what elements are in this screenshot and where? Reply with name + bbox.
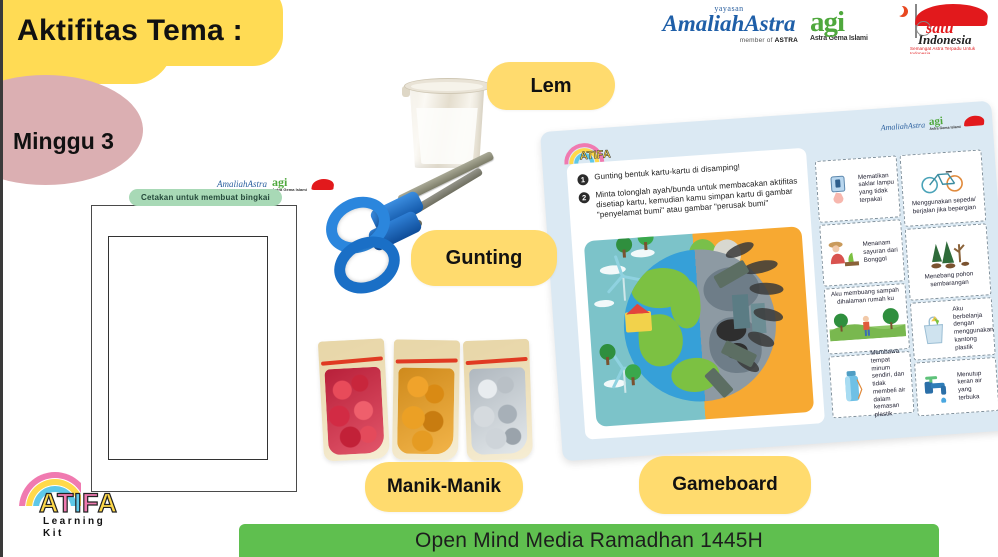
atifa-wordmark: ATIFA [39,488,118,519]
bicycle-icon [919,161,965,200]
cloud-puff [630,248,654,258]
astra-brand: ASTRA [775,37,798,44]
gameboard-card: ATIFA AmaliahAstra agiAstra Gema Islami … [540,101,998,462]
card-text: Aku berbelanja dengan menggunakan kanton… [950,303,995,352]
tree-icon [624,364,641,381]
activity-card[interactable]: Aku membuang sampah dihalaman rumah ku [824,283,910,355]
gameboard-logo-group: AmaliahAstra agiAstra Gema Islami [880,113,985,135]
print-sheet [91,205,297,492]
satu-tagline: Semangat Astra Terpadu Untuk Indonesia [910,46,994,54]
slide-canvas: Aktifitas Tema : Minggu 3 yayasan Amalia… [0,0,998,557]
glue-bucket-photo [403,68,491,168]
atifa-kit-text: Kit [43,528,64,539]
svg-text:ATIFA: ATIFA [579,148,611,162]
satu-indonesia-logo: satu Indonesia Semangat Astra Terpadu Un… [908,2,994,54]
agi-logo: agi Astra Gema Islami [810,2,902,60]
earth-illustration [584,226,814,427]
plastic-bag-icon [915,311,953,349]
activity-card[interactable]: Menanam sayuran dari Bonggol [819,219,905,287]
activity-card[interactable]: Membawa tempat minum sendiri, dan tidak … [828,351,914,419]
activity-card[interactable]: Menutup keran air yang terbuka [914,357,998,417]
gold-beads [397,368,454,455]
gameboard-amaliah-logo: AmaliahAstra [880,120,925,132]
gameboard-steps-list: 1 Gunting bentuk kartu-kartu di disampin… [577,158,802,228]
tree-cutting-icon [922,235,972,274]
atifa-learning-kit-logo: ATIFA Learning Kit [13,470,143,540]
amaliah-astra-logo: yayasan AmaliahAstra member of ASTRA [654,2,804,54]
activity-card[interactable]: Menebang pohon sembarangan [905,223,992,301]
callout-gameboard: Gameboard [639,456,811,514]
bead-bag-red [318,338,390,461]
tree-icon [637,229,654,246]
callout-beads: Manik-Manik [365,462,523,512]
gameboard-instruction-panel: 1 Gunting bentuk kartu-kartu di disampin… [566,148,825,440]
silver-beads [469,367,528,455]
print-sheet-pill-label: Cetakan untuk membuat bingkai [129,189,282,206]
faucet-icon [919,369,957,407]
gameboard-agi-logo: agiAstra Gema Islami [929,115,961,132]
amaliah-name: AmaliahAstra [654,13,804,34]
red-beads [324,367,384,456]
card-text: Mematikan saklar lampu yang tidak terpak… [856,171,896,205]
bag-top-flap [394,339,460,359]
tree-icon [616,236,633,253]
windmill-icon [622,275,626,301]
house-icon [625,311,652,333]
bead-bag-silver [463,339,533,461]
card-text: Menanam sayuran dari Bonggol [860,239,900,265]
step-number-badge: 2 [578,192,590,204]
card-text: Menutup keran air yang terbuka [955,369,995,403]
gardening-icon [824,235,862,273]
agi-text: agi [810,6,844,38]
footer-text: Open Mind Media Ramadhan 1445H [415,529,763,553]
amaliah-member-text: member of [740,37,775,44]
cloud-puff [594,299,614,307]
bag-zip-seal [396,358,458,363]
activity-card[interactable]: Menggunakan sepeda/ berjalan jika beperg… [900,149,987,227]
card-text: Menebang pohon sembarangan [911,270,988,291]
agi-wordmark: agi [810,8,902,37]
bucket-glue-fill [415,108,479,164]
water-bottle-icon [833,367,871,405]
building-icon [732,294,750,329]
activity-cards-grid: Mematikan saklar lampu yang tidak terpak… [815,149,998,418]
brand-logo-group: yayasan AmaliahAstra member of ASTRA agi… [654,2,994,58]
activity-card[interactable]: Aku berbelanja dengan menggunakan kanton… [910,297,996,361]
crescent-moon-icon [893,5,904,16]
week-badge-label: Minggu 3 [13,128,114,155]
light-switch-icon [820,171,858,209]
callout-scissors: Gunting [411,230,557,286]
bead-bag-gold [392,339,460,460]
sheet-amaliah-logo: AmaliahAstra [217,179,267,189]
step-number-badge: 1 [577,174,589,186]
activity-card[interactable]: Mematikan saklar lampu yang tidak terpak… [815,155,901,223]
sheet-satu-indonesia-icon [311,179,335,190]
bucket-inner-rim [411,82,483,91]
amaliah-member-line: member of ASTRA [654,37,804,44]
print-sheet-frame-outline [108,236,268,460]
atifa-learning-text: Learning [43,516,105,527]
footer-banner: Open Mind Media Ramadhan 1445H [239,524,939,557]
littering-yard-icon [828,302,906,341]
step-text: Minta tolonglah ayah/bunda untuk membaca… [595,176,802,221]
card-text: Membawa tempat minum sendiri, dan tidak … [868,347,911,419]
gameboard-satu-indonesia-icon [964,115,985,126]
page-title: Aktifitas Tema : [17,14,243,48]
card-text: Menggunakan sepeda/ berjalan jika beperg… [906,196,983,217]
callout-glue: Lem [487,62,615,110]
